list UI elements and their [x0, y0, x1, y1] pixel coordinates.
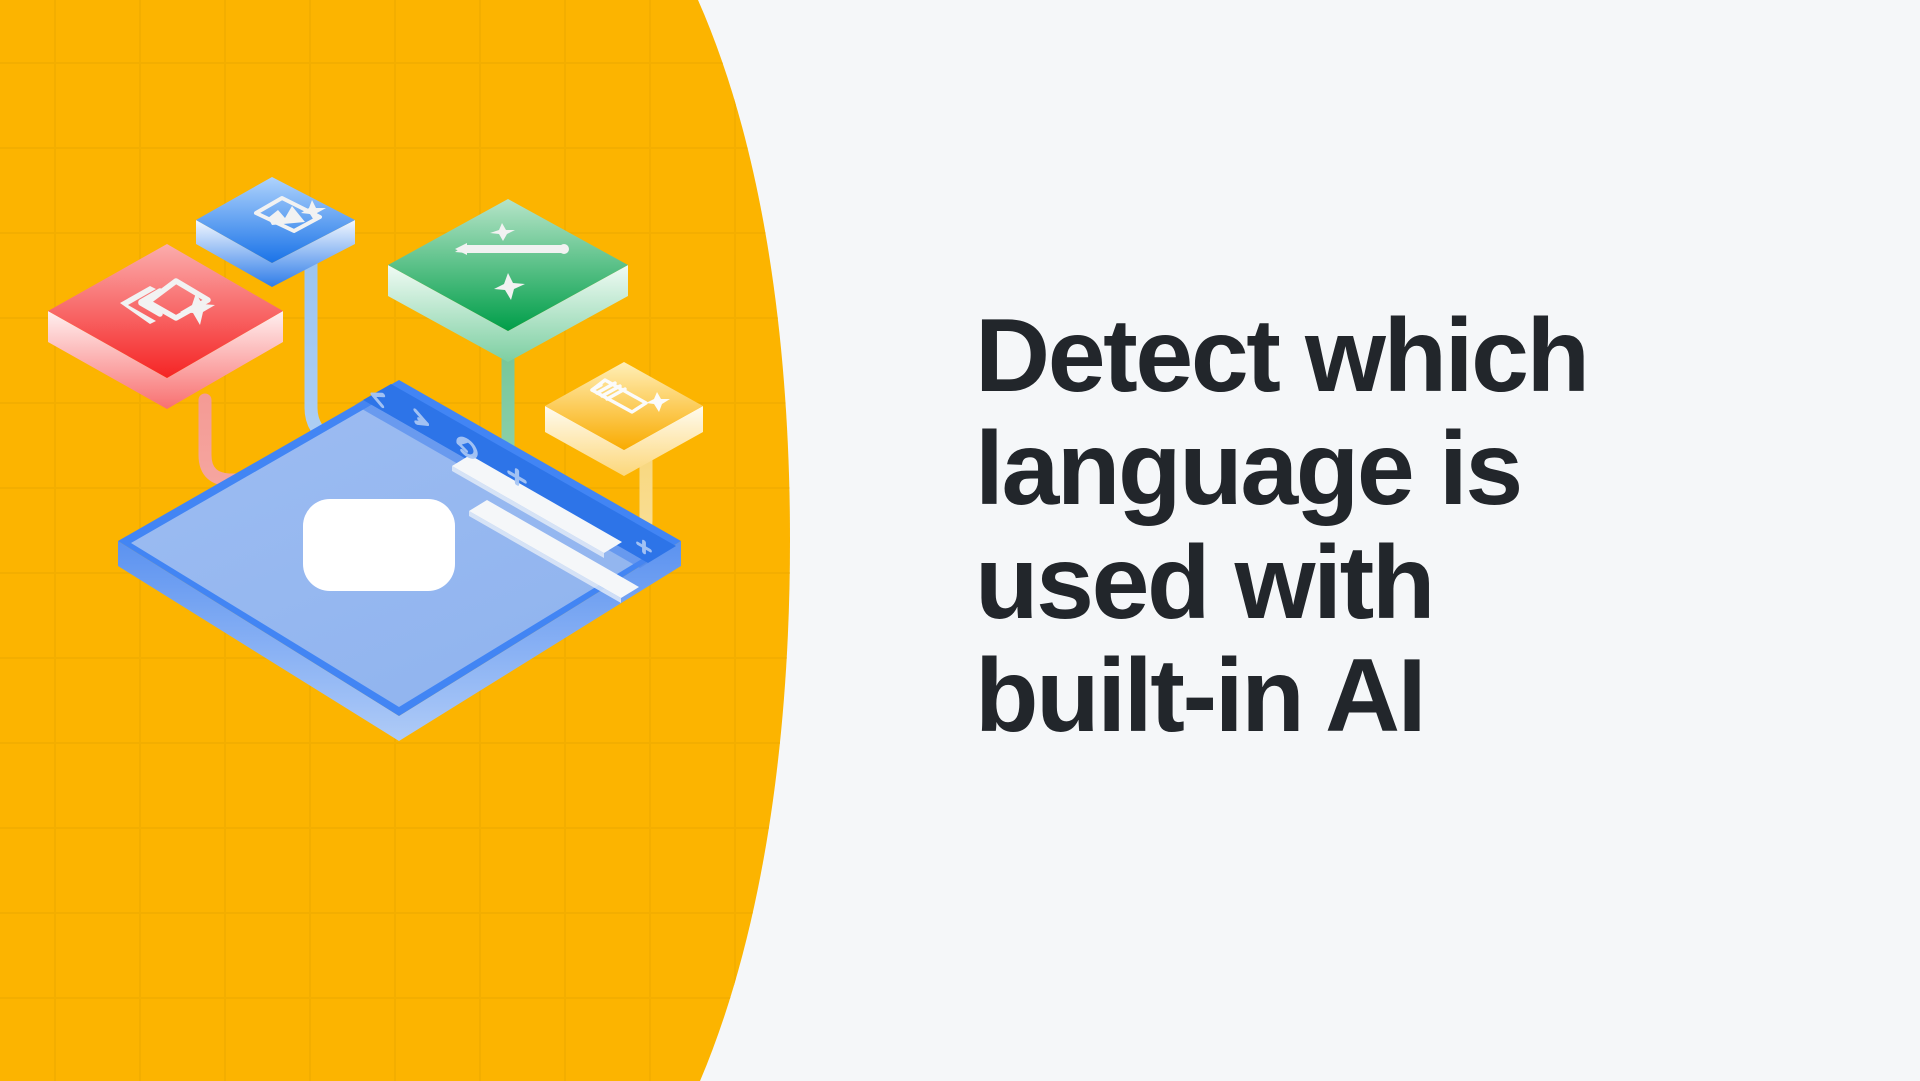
- page-title: Detect which language is used with built…: [975, 300, 1805, 753]
- headline-block: Detect which language is used with built…: [975, 300, 1805, 753]
- orange-background-panel: [0, 0, 800, 1081]
- slide-canvas: Detect which language is used with built…: [0, 0, 1920, 1081]
